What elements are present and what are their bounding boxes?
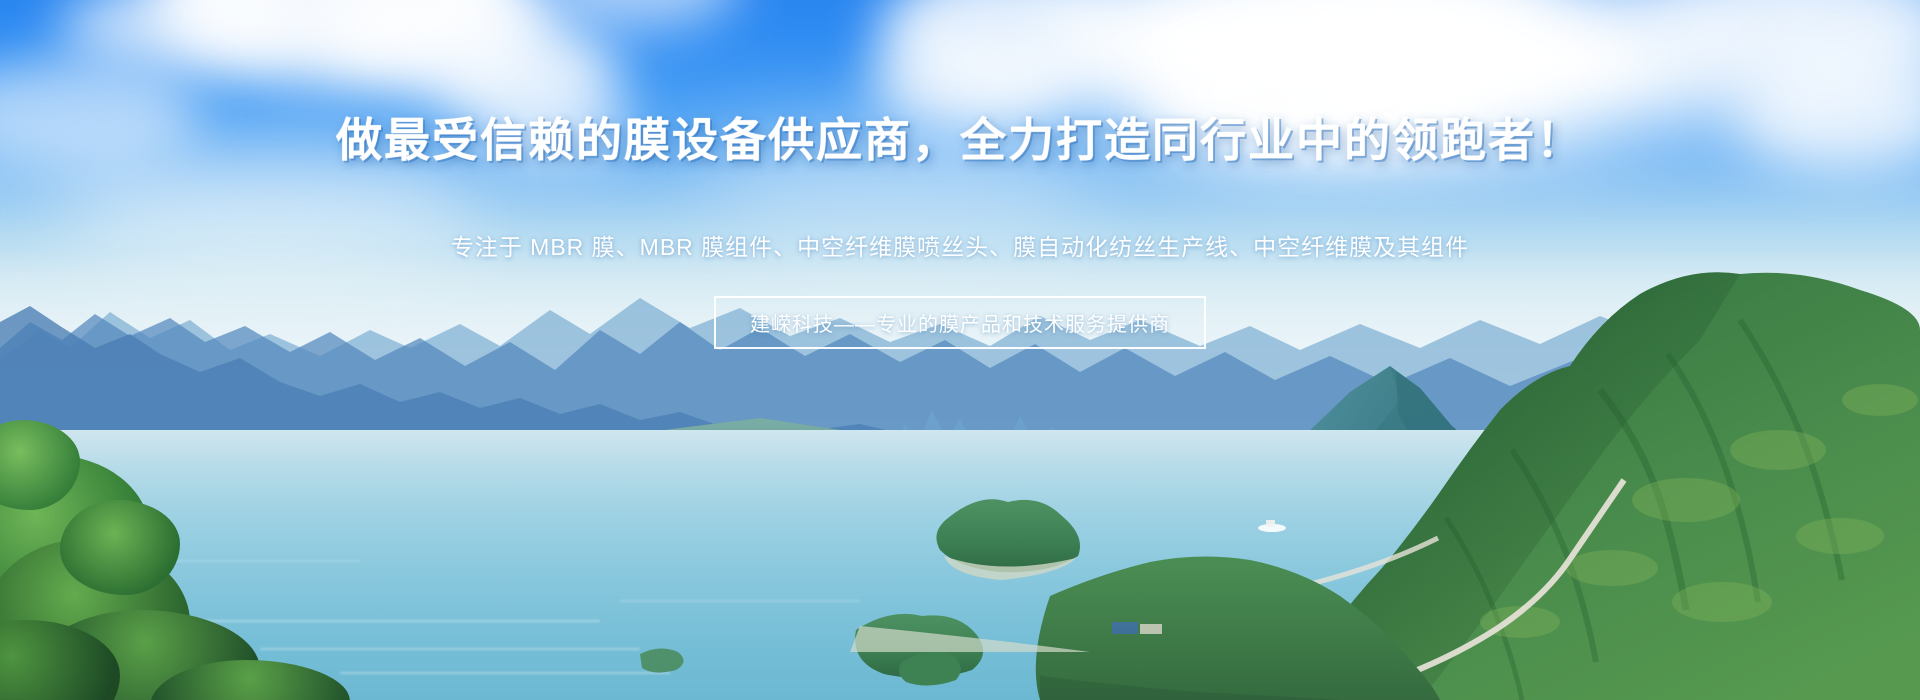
banner-tagline-box: 建嵘科技——专业的膜产品和技术服务提供商 (714, 296, 1206, 349)
hero-banner: 做最受信赖的膜设备供应商，全力打造同行业中的领跑者！ 专注于 MBR 膜、MBR… (0, 0, 1920, 700)
banner-text-overlay: 做最受信赖的膜设备供应商，全力打造同行业中的领跑者！ 专注于 MBR 膜、MBR… (0, 0, 1920, 700)
banner-headline: 做最受信赖的膜设备供应商，全力打造同行业中的领跑者！ (0, 104, 1920, 170)
banner-subtitle: 专注于 MBR 膜、MBR 膜组件、中空纤维膜喷丝头、膜自动化纺丝生产线、中空纤… (0, 228, 1920, 262)
